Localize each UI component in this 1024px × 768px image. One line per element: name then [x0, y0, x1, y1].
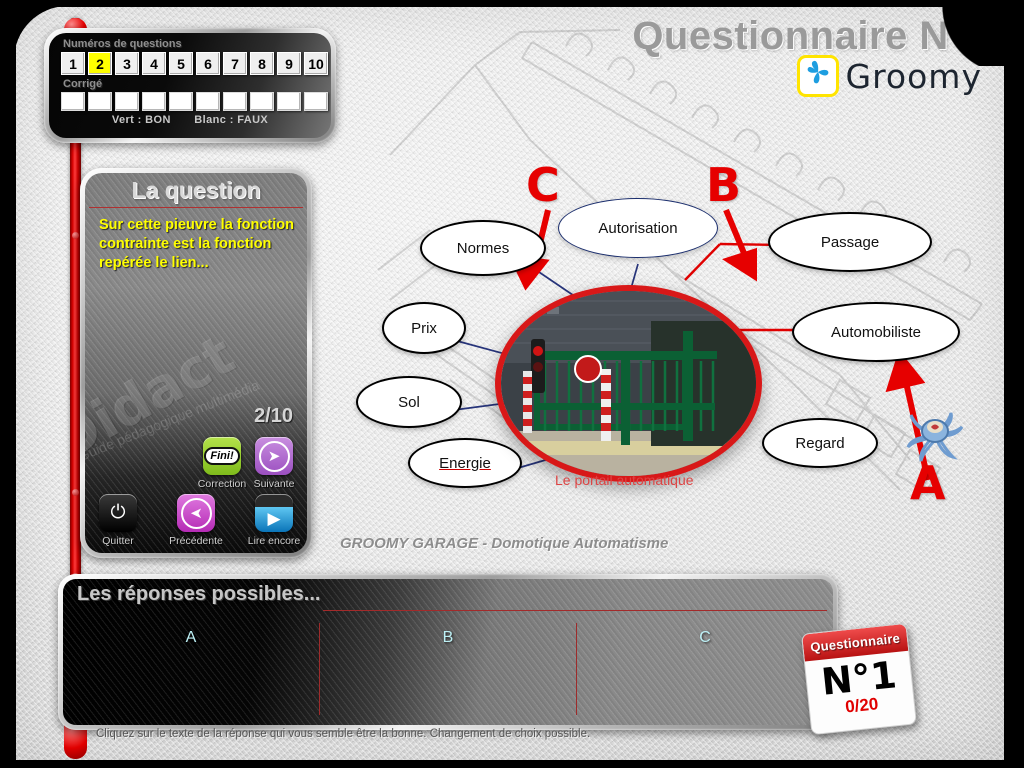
legend: Vert : BON Blanc : FAUX	[49, 111, 331, 126]
question-number-4[interactable]: 4	[142, 52, 166, 75]
question-number-1[interactable]: 1	[61, 52, 85, 75]
app-window: Questionnaire N°1 Groomy Numéros de ques…	[0, 0, 1024, 768]
frame-top	[0, 0, 1024, 7]
corrected-label: Corrigé	[49, 75, 331, 91]
lire-encore-button[interactable]: ▶ Lire encore	[253, 494, 295, 547]
correction-button[interactable]: Fini! Correction	[201, 437, 243, 490]
questionnaire-badge: Questionnaire N°1 0/20	[801, 623, 917, 736]
arrow-left-icon: ➤	[177, 494, 215, 532]
answers-heading: Les réponses possibles...	[63, 579, 833, 608]
corrected-cell-3	[115, 92, 139, 111]
octopus-icon	[905, 405, 965, 465]
instruction-hint: Cliquez sur le texte de la réponse qui v…	[96, 728, 590, 740]
rail-stud	[72, 489, 79, 496]
question-number-2[interactable]: 2	[88, 52, 112, 75]
frame-right	[1004, 0, 1024, 768]
corrected-cell-6	[196, 92, 220, 111]
node-regard[interactable]: Regard	[762, 418, 878, 468]
precedente-button[interactable]: ➤ Précédente	[175, 494, 217, 547]
suivante-label: Suivante	[254, 478, 295, 490]
legend-green: Vert : BON	[112, 114, 171, 126]
corrected-cell-2	[88, 92, 112, 111]
question-number-5[interactable]: 5	[169, 52, 193, 75]
question-panel: La question Sur cette pieuvre la fonctio…	[80, 168, 312, 558]
marker-a: A	[910, 460, 946, 506]
question-numbers-panel: Numéros de questions 12345678910 Corrigé…	[44, 28, 336, 143]
corrected-cell-1	[61, 92, 85, 111]
quitter-label: Quitter	[102, 535, 134, 547]
precedente-label: Précédente	[169, 535, 223, 547]
node-sol[interactable]: Sol	[356, 376, 462, 428]
suivante-button[interactable]: ➤ Suivante	[253, 437, 295, 490]
nav-button-row-2: ⏻ Quitter ➤ Précédente ▶ Li	[85, 494, 307, 547]
corrected-cell-5	[169, 92, 193, 111]
node-passage[interactable]: Passage	[768, 212, 932, 272]
automatic-gate-photo	[495, 285, 762, 482]
fini-bubble-text: Fini!	[204, 447, 239, 465]
question-counter: 2/10	[254, 405, 293, 428]
film-play-icon: ▶	[255, 494, 293, 532]
groomy-pinwheel-icon	[797, 55, 839, 97]
answer-column-c[interactable]: C	[576, 623, 833, 715]
correction-label: Correction	[198, 478, 246, 490]
answers-panel: Les réponses possibles... A B C	[58, 574, 838, 730]
question-text: Sur cette pieuvre la fonction contrainte…	[85, 216, 307, 273]
photo-caption: Le portail automatique	[555, 472, 694, 488]
question-number-3[interactable]: 3	[115, 52, 139, 75]
answer-label-a: A	[186, 629, 197, 646]
frame-bottom	[0, 760, 1024, 768]
lire-encore-label: Lire encore	[248, 535, 301, 547]
question-panel-heading: La question	[85, 173, 307, 207]
answer-column-b[interactable]: B	[319, 623, 576, 715]
answer-column-a[interactable]: A	[63, 623, 319, 715]
question-number-6[interactable]: 6	[196, 52, 220, 75]
question-number-10[interactable]: 10	[304, 52, 328, 75]
nav-button-row-1: Fini! Correction ➤ Suivante	[85, 437, 307, 490]
nav-buttons: Fini! Correction ➤ Suivante ⏻	[85, 437, 307, 547]
node-autorisation[interactable]: Autorisation	[558, 198, 718, 258]
corrected-cell-7	[223, 92, 247, 111]
corrected-cells-row	[49, 91, 331, 111]
node-energie[interactable]: Energie	[408, 438, 522, 488]
node-automobiliste[interactable]: Automobiliste	[792, 302, 960, 362]
question-number-row[interactable]: 12345678910	[49, 52, 331, 75]
frame-corner	[920, 6, 1010, 66]
question-number-9[interactable]: 9	[277, 52, 301, 75]
marker-c: C	[526, 162, 560, 208]
corrected-cell-4	[142, 92, 166, 111]
numbers-panel-title: Numéros de questions	[49, 33, 331, 52]
fini-bubble-icon: Fini!	[203, 437, 241, 475]
diagram-footer: GROOMY GARAGE - Domotique Automatisme	[340, 535, 668, 552]
rail-stud	[72, 232, 79, 239]
arrow-right-icon: ➤	[255, 437, 293, 475]
node-normes[interactable]: Normes	[420, 220, 546, 276]
answers-divider	[323, 610, 827, 611]
corrected-cell-8	[250, 92, 274, 111]
answer-label-c: C	[699, 629, 711, 646]
legend-white: Blanc : FAUX	[194, 114, 268, 126]
quitter-button[interactable]: ⏻ Quitter	[97, 494, 139, 547]
marker-b: B	[706, 162, 741, 208]
heading-divider	[89, 207, 303, 208]
answer-columns: A B C	[63, 623, 833, 715]
corrected-cell-10	[304, 92, 328, 111]
frame-left	[0, 0, 16, 768]
question-number-7[interactable]: 7	[223, 52, 247, 75]
answer-label-b: B	[443, 629, 454, 646]
corrected-cell-9	[277, 92, 301, 111]
node-prix[interactable]: Prix	[382, 302, 466, 354]
spider-diagram: Normes Autorisation Passage Prix Automob…	[330, 150, 1020, 560]
question-number-8[interactable]: 8	[250, 52, 274, 75]
power-icon: ⏻	[99, 494, 137, 532]
